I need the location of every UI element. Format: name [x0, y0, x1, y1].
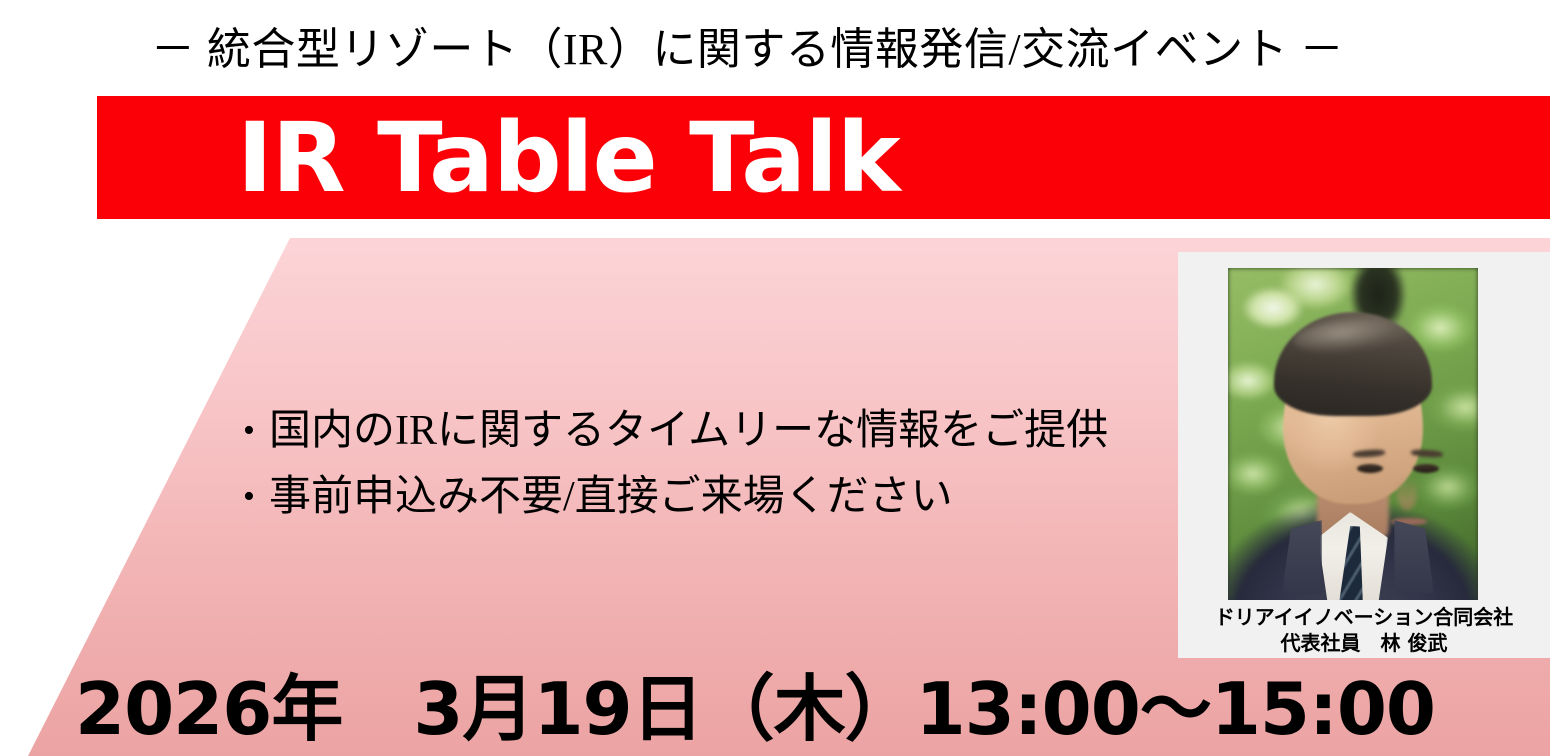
page-title: IR Table Talk [237, 108, 900, 208]
speaker-card: ドリアイイノベーション合同会社 代表社員 林 俊武 [1178, 252, 1550, 658]
speaker-photo [1228, 268, 1478, 600]
event-kicker-line: － 統合型リゾート（IR）に関する情報発信/交流イベント － [0, 20, 1495, 80]
poster-root: － 統合型リゾート（IR）に関する情報発信/交流イベント － IR Table … [0, 0, 1550, 756]
bullet-dot-icon: • [243, 398, 269, 464]
list-item-label: 国内のIRに関するタイムリーな情報をご提供 [269, 398, 1108, 464]
nose [1397, 476, 1417, 510]
speaker-caption: ドリアイイノベーション合同会社 代表社員 林 俊武 [1178, 604, 1550, 656]
eye-left [1357, 464, 1383, 473]
title-banner: IR Table Talk [97, 96, 1550, 219]
eyebrow-left [1353, 449, 1385, 458]
bullet-dot-icon: • [243, 464, 269, 530]
highlights-list: • 国内のIRに関するタイムリーな情報をご提供 • 事前申込み不要/直接ご来場く… [243, 398, 1103, 530]
list-item: • 国内のIRに関するタイムリーな情報をご提供 [243, 398, 1103, 464]
list-item-label: 事前申込み不要/直接ご来場ください [269, 464, 953, 530]
list-item: • 事前申込み不要/直接ご来場ください [243, 464, 1103, 530]
eye-right [1413, 464, 1439, 473]
event-datetime: 2026年 3月19日（木）13:00〜15:00 [0, 663, 1510, 755]
speaker-title-name: 代表社員 林 俊武 [1178, 630, 1550, 656]
speaker-company: ドリアイイノベーション合同会社 [1178, 604, 1550, 630]
